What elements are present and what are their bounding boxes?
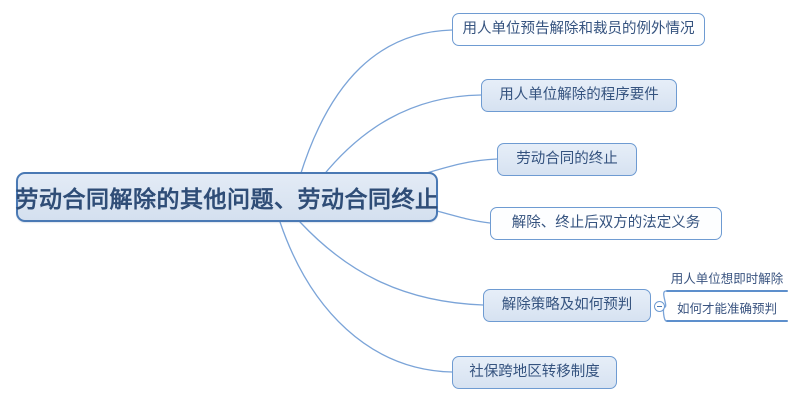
branch-node-5[interactable]: 解除策略及如何预判 xyxy=(483,289,651,322)
branch-node-6-label: 社保跨地区转移制度 xyxy=(469,365,600,380)
subnode-2[interactable]: 如何才能准确预判 xyxy=(670,302,784,319)
branch-node-1-label: 用人单位预告解除和裁员的例外情况 xyxy=(463,22,695,37)
central-node[interactable]: 劳动合同解除的其他问题、劳动合同终止 xyxy=(16,172,438,222)
minus-circle-icon[interactable] xyxy=(654,301,665,312)
branch-node-2[interactable]: 用人单位解除的程序要件 xyxy=(481,79,677,112)
connector-branch-1 xyxy=(300,30,452,176)
connector-branch-5 xyxy=(300,222,483,305)
central-node-label: 劳动合同解除的其他问题、劳动合同终止 xyxy=(16,180,439,214)
subnode-1-label: 用人单位想即时解除 xyxy=(671,272,784,286)
branch-node-3-label: 劳动合同的终止 xyxy=(516,152,618,167)
subnode-1[interactable]: 用人单位想即时解除 xyxy=(666,272,788,289)
branch-node-3[interactable]: 劳动合同的终止 xyxy=(497,143,637,176)
branch-node-2-label: 用人单位解除的程序要件 xyxy=(499,88,659,103)
connector-branch-4 xyxy=(437,211,490,223)
branch-node-6[interactable]: 社保跨地区转移制度 xyxy=(452,356,617,389)
branch-node-1[interactable]: 用人单位预告解除和裁员的例外情况 xyxy=(452,13,705,46)
connector-branch-2 xyxy=(322,95,481,177)
branch-node-4-label: 解除、终止后双方的法定义务 xyxy=(512,216,701,231)
subnode-2-underline xyxy=(666,320,788,322)
branch-node-5-label: 解除策略及如何预判 xyxy=(502,298,633,313)
subnode-1-underline xyxy=(666,290,788,292)
connector-branch-6 xyxy=(280,222,452,372)
branch-node-4[interactable]: 解除、终止后双方的法定义务 xyxy=(490,207,722,240)
mindmap-canvas: 劳动合同解除的其他问题、劳动合同终止 用人单位预告解除和裁员的例外情况 用人单位… xyxy=(0,0,800,402)
subnode-2-label: 如何才能准确预判 xyxy=(677,302,777,316)
